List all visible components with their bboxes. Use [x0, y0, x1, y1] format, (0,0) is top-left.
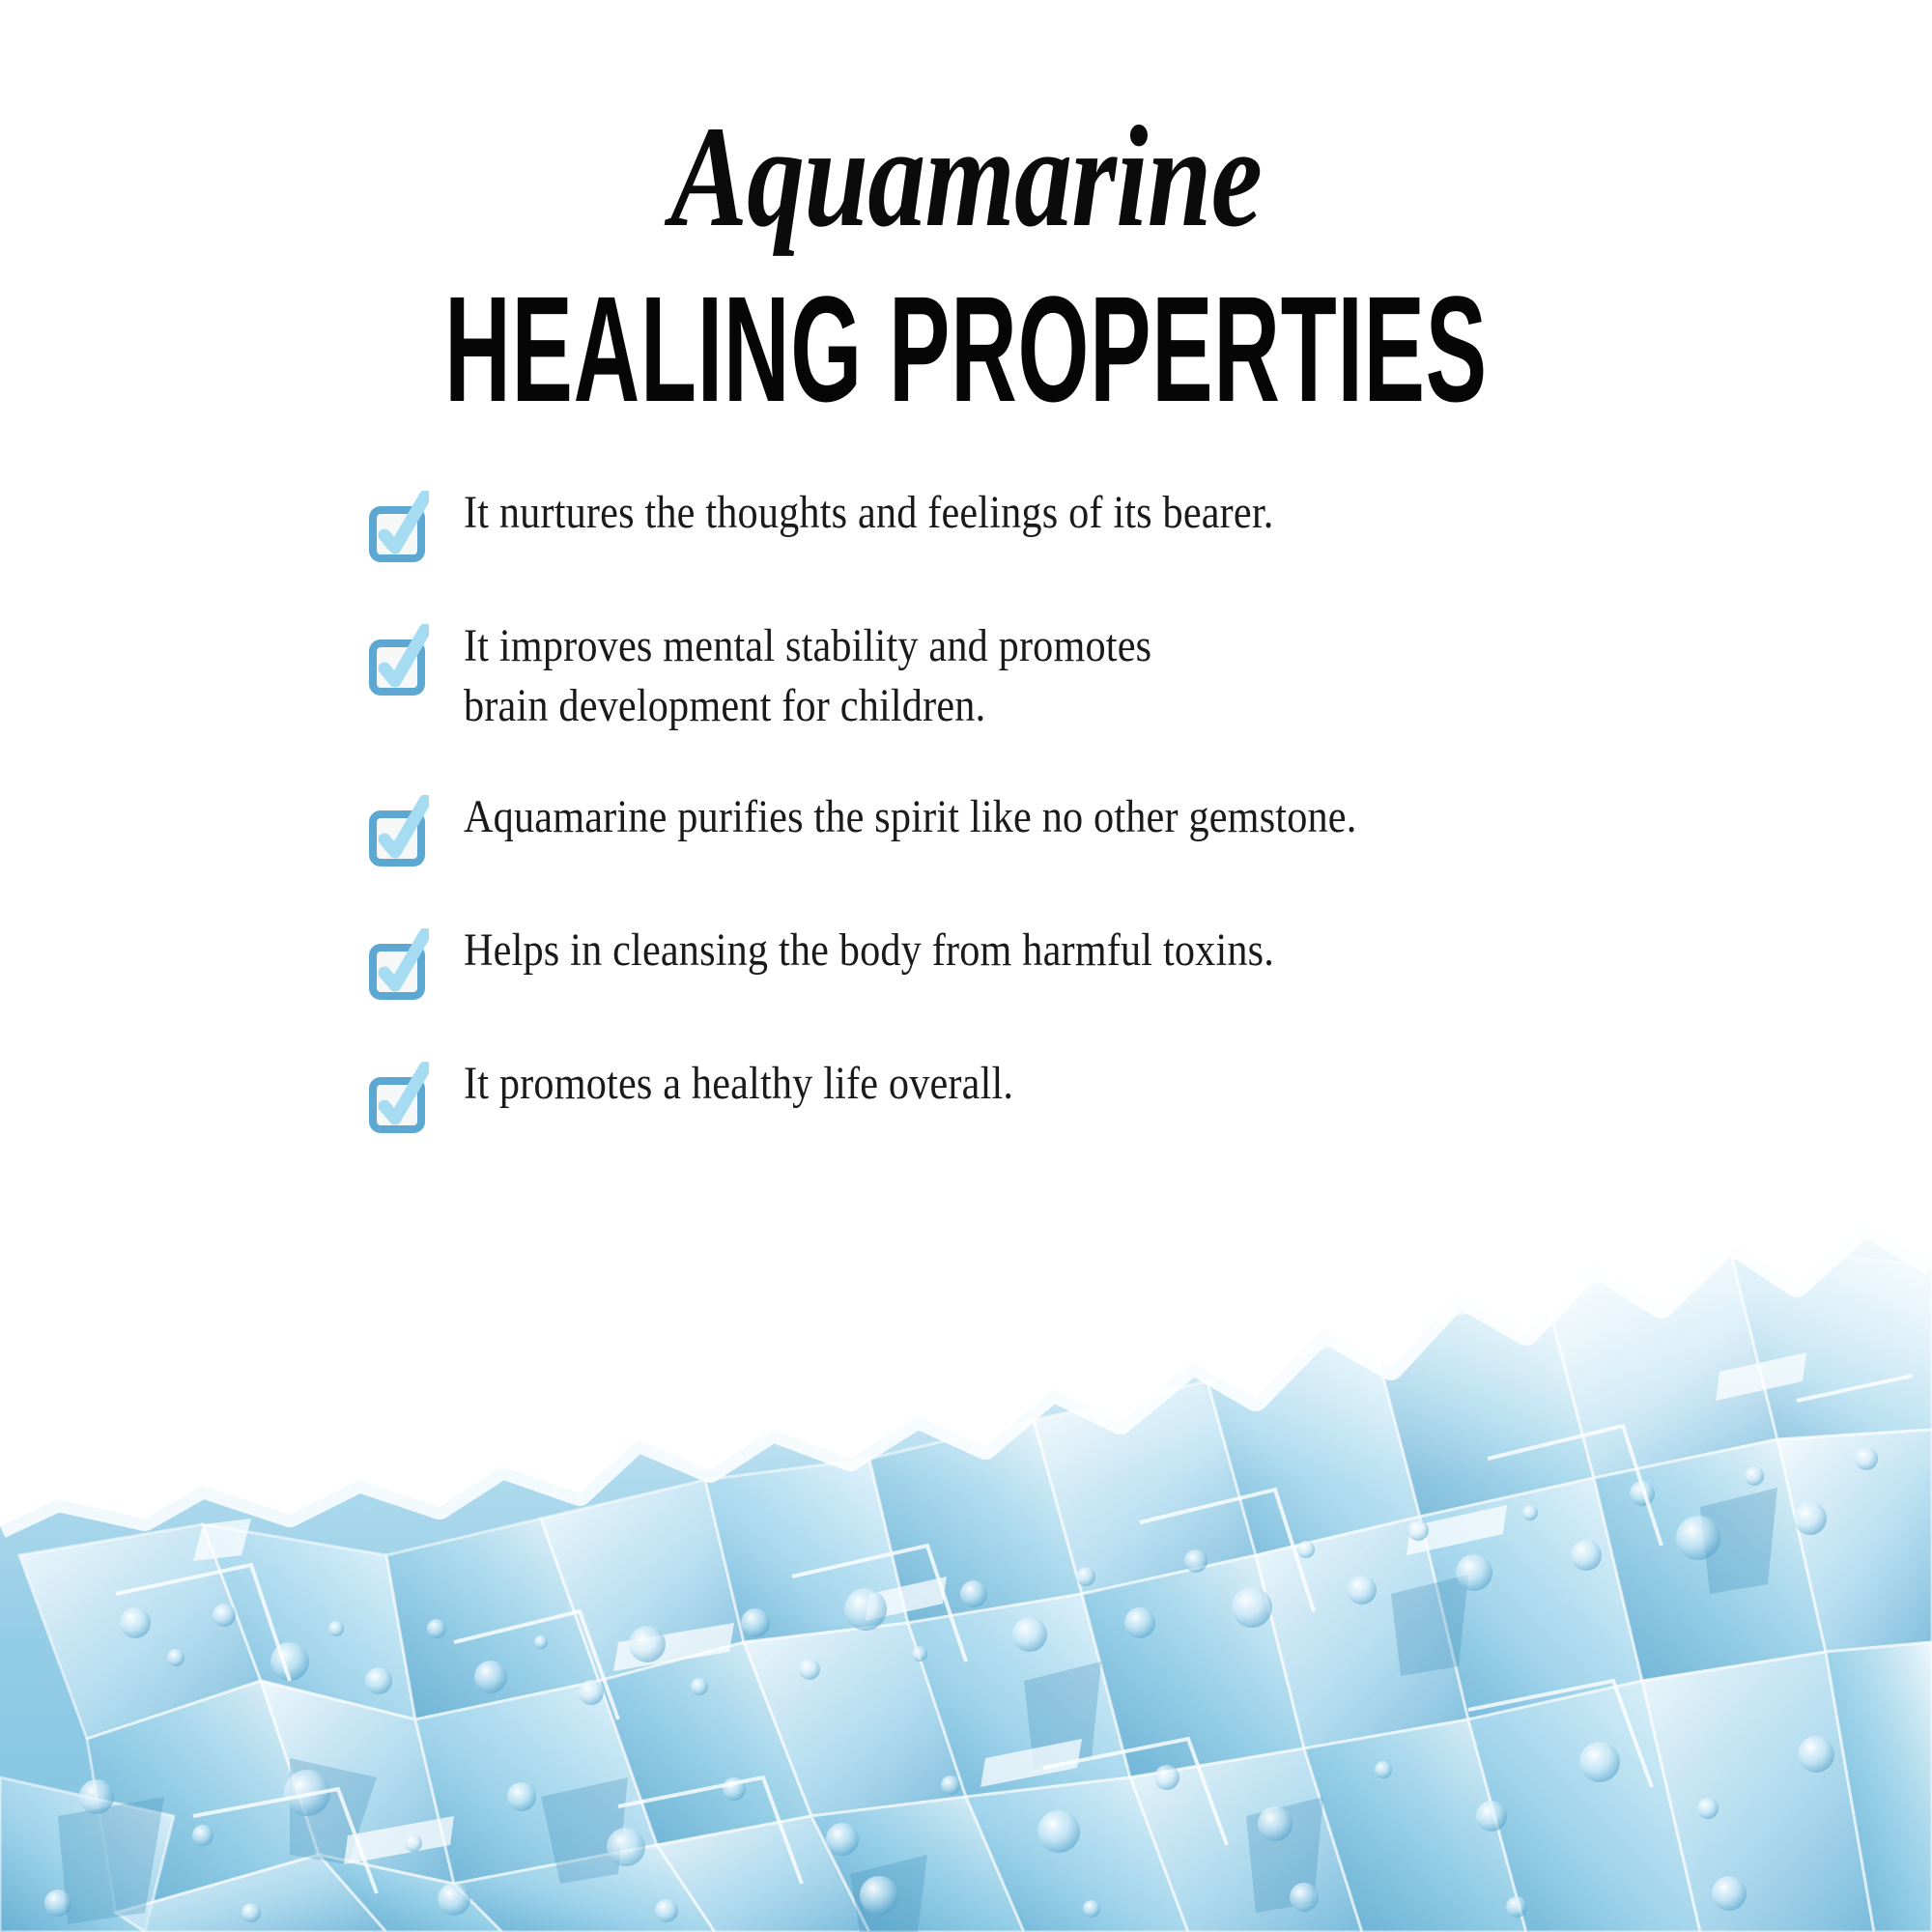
list-item: It improves mental stability and promote…: [369, 616, 1816, 737]
list-item: Aquamarine purifies the spirit like no o…: [369, 787, 1816, 870]
checkbox-checked-icon: [369, 795, 429, 870]
checkbox-checked-icon: [369, 624, 429, 699]
checkbox-checked-icon: [369, 491, 429, 566]
poster-header: Aquamarine HEALING PROPERTIES: [0, 0, 1932, 402]
list-item-label: Helps in cleansing the body from harmful…: [464, 921, 1274, 980]
list-item: It nurtures the thoughts and feelings of…: [369, 483, 1816, 566]
checkbox-checked-icon: [369, 1062, 429, 1137]
page-title-subheading: HEALING PROPERTIES: [270, 274, 1662, 425]
page-title-script: Aquamarine: [193, 104, 1739, 249]
list-item-label: It improves mental stability and promote…: [464, 616, 1151, 737]
poster-canvas: Aquamarine HEALING PROPERTIES It nurture…: [0, 0, 1932, 1932]
list-item-label: It nurtures the thoughts and feelings of…: [464, 483, 1273, 543]
healing-properties-list: It nurtures the thoughts and feelings of…: [369, 483, 1816, 1166]
list-item-label: It promotes a healthy life overall.: [464, 1054, 1013, 1114]
ice-cubes-photo: [0, 1140, 1932, 1932]
checkbox-checked-icon: [369, 928, 429, 1004]
list-item-label: Aquamarine purifies the spirit like no o…: [464, 787, 1356, 847]
list-item: Helps in cleansing the body from harmful…: [369, 921, 1816, 1004]
list-item: It promotes a healthy life overall.: [369, 1054, 1816, 1137]
